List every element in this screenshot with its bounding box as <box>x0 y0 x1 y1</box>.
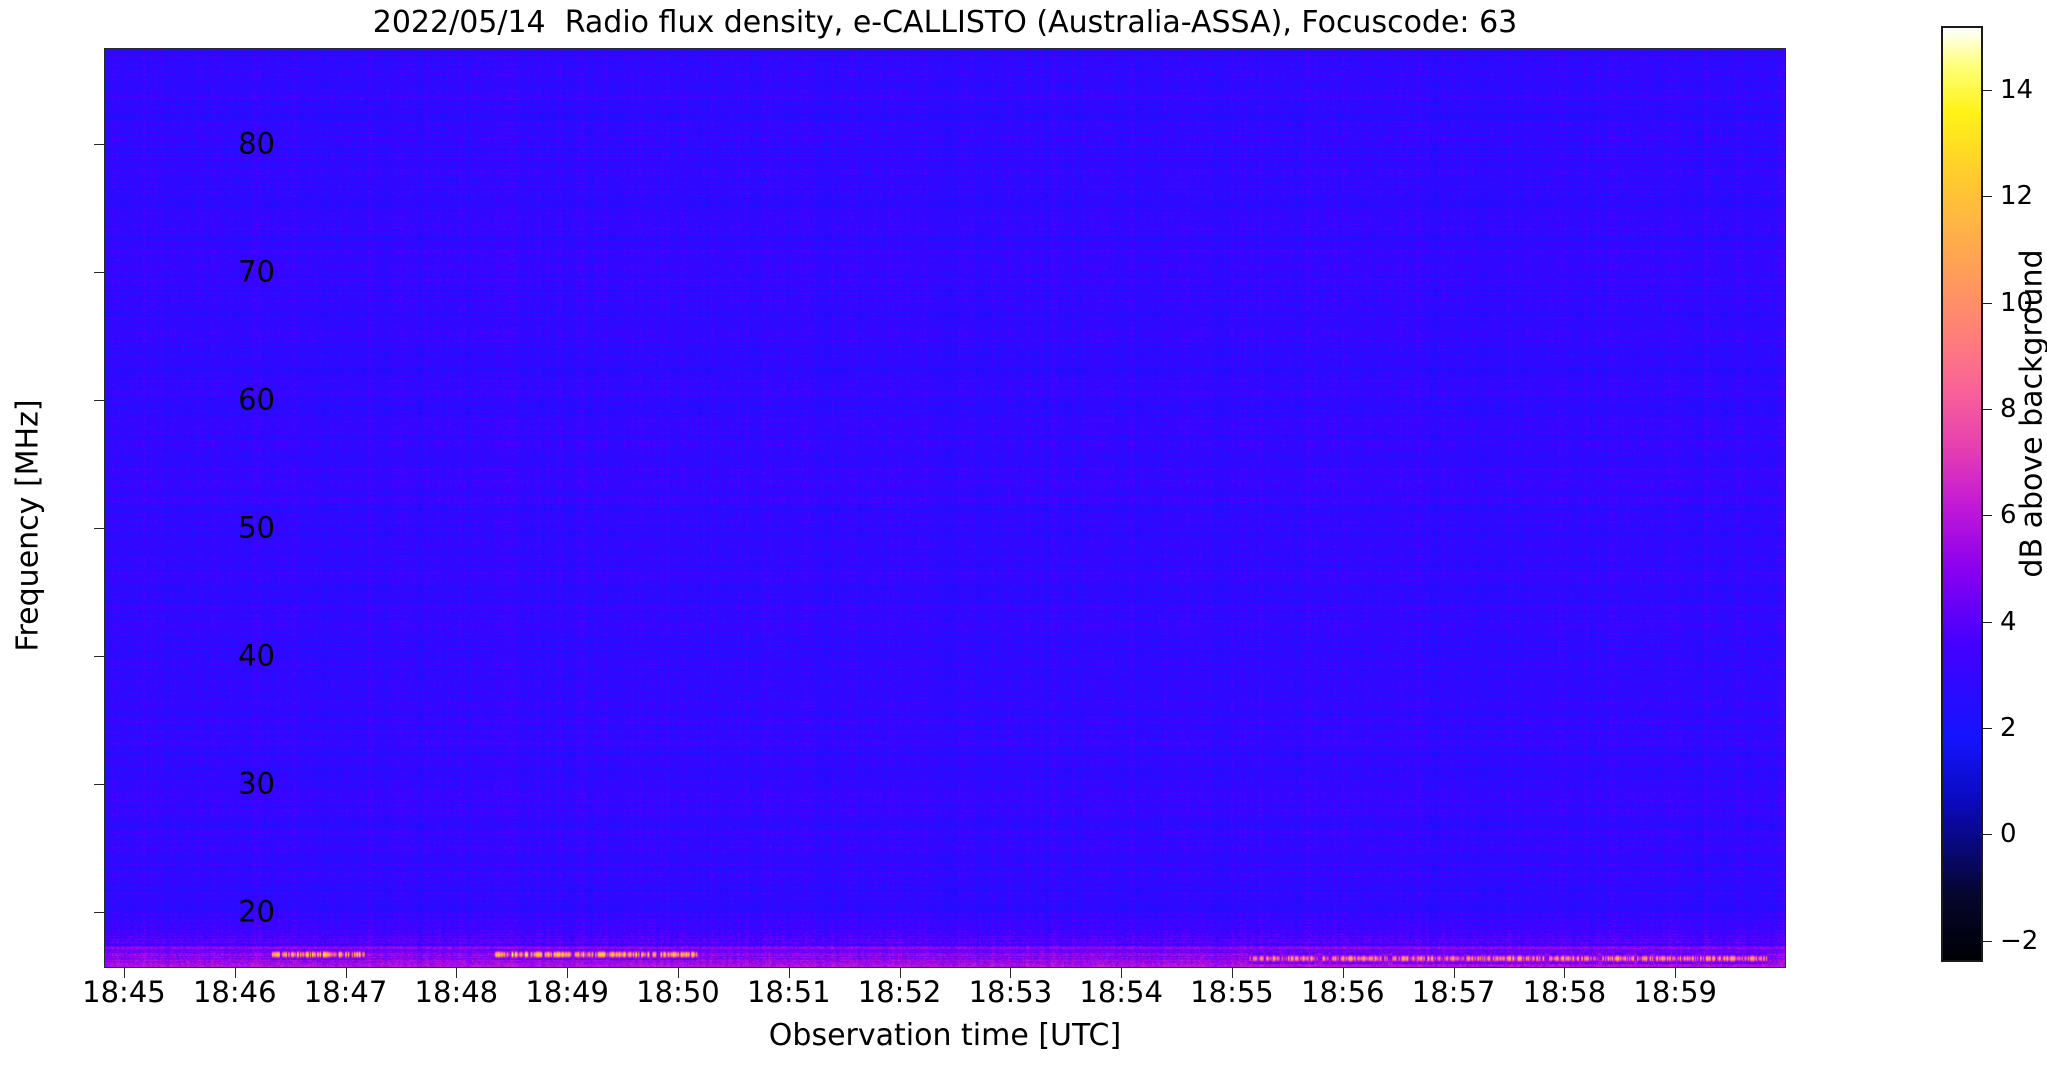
y-axis-tick-mark <box>94 784 104 785</box>
colorbar-tick-mark <box>1983 303 1992 304</box>
y-axis-label: Frequency [MHz] <box>11 266 46 786</box>
y-axis-tick-mark <box>94 144 104 145</box>
x-axis-tick-label: 18:50 <box>636 976 720 1008</box>
y-axis-tick-label: 30 <box>238 769 275 798</box>
x-axis-tick-label: 18:56 <box>1301 976 1385 1008</box>
page-title: 2022/05/14 Radio flux density, e-CALLIST… <box>104 4 1786 42</box>
x-axis-tick-label: 18:46 <box>193 976 277 1008</box>
y-axis-tick-label: 20 <box>238 897 275 926</box>
y-axis-tick-label: 60 <box>238 385 275 414</box>
y-axis-tick-mark <box>94 656 104 657</box>
y-axis-tick-mark <box>94 528 104 529</box>
x-axis-tick-label: 18:47 <box>304 976 388 1008</box>
spectrogram-heatmap <box>105 49 1785 967</box>
y-axis-tick-mark <box>94 912 104 913</box>
x-axis-tick-label: 18:49 <box>525 976 609 1008</box>
colorbar-tick-mark <box>1983 90 1992 91</box>
colorbar-tick-mark <box>1983 196 1992 197</box>
y-axis-tick-mark <box>94 272 104 273</box>
colorbar-tick-mark <box>1983 728 1992 729</box>
x-axis-tick-label: 18:51 <box>747 976 831 1008</box>
colorbar-tick-label: −2 <box>2000 928 2038 954</box>
x-axis-tick-label: 18:45 <box>82 976 166 1008</box>
spectrogram-axes <box>104 48 1786 968</box>
x-axis-label: Observation time [UTC] <box>104 1018 1786 1053</box>
x-axis-tick-label: 18:52 <box>858 976 942 1008</box>
colorbar-tick-mark <box>1983 622 1992 623</box>
y-axis-tick-label: 40 <box>238 641 275 670</box>
colorbar-tick-label: 14 <box>2000 77 2033 103</box>
x-axis-tick-label: 18:58 <box>1523 976 1607 1008</box>
y-axis-tick-label: 70 <box>238 257 275 286</box>
colorbar-tick-label: 2 <box>2000 715 2017 741</box>
colorbar-tick-mark <box>1983 409 1992 410</box>
y-axis-tick-label: 50 <box>238 513 275 542</box>
colorbar-tick-mark <box>1983 834 1992 835</box>
x-axis-tick-label: 18:53 <box>969 976 1053 1008</box>
colorbar <box>1941 26 1983 962</box>
colorbar-label: dB above background <box>2015 154 2047 674</box>
colorbar-tick-mark <box>1983 515 1992 516</box>
x-axis-tick-label: 18:54 <box>1079 976 1163 1008</box>
x-axis-tick-label: 18:48 <box>415 976 499 1008</box>
y-axis-tick-label: 80 <box>238 129 275 158</box>
colorbar-gradient <box>1943 28 1981 960</box>
y-axis-tick-mark <box>94 400 104 401</box>
x-axis-tick-label: 18:59 <box>1633 976 1717 1008</box>
colorbar-tick-mark <box>1983 941 1992 942</box>
x-axis-tick-label: 18:55 <box>1190 976 1274 1008</box>
colorbar-tick-label: 0 <box>2000 821 2017 847</box>
x-axis-tick-label: 18:57 <box>1412 976 1496 1008</box>
